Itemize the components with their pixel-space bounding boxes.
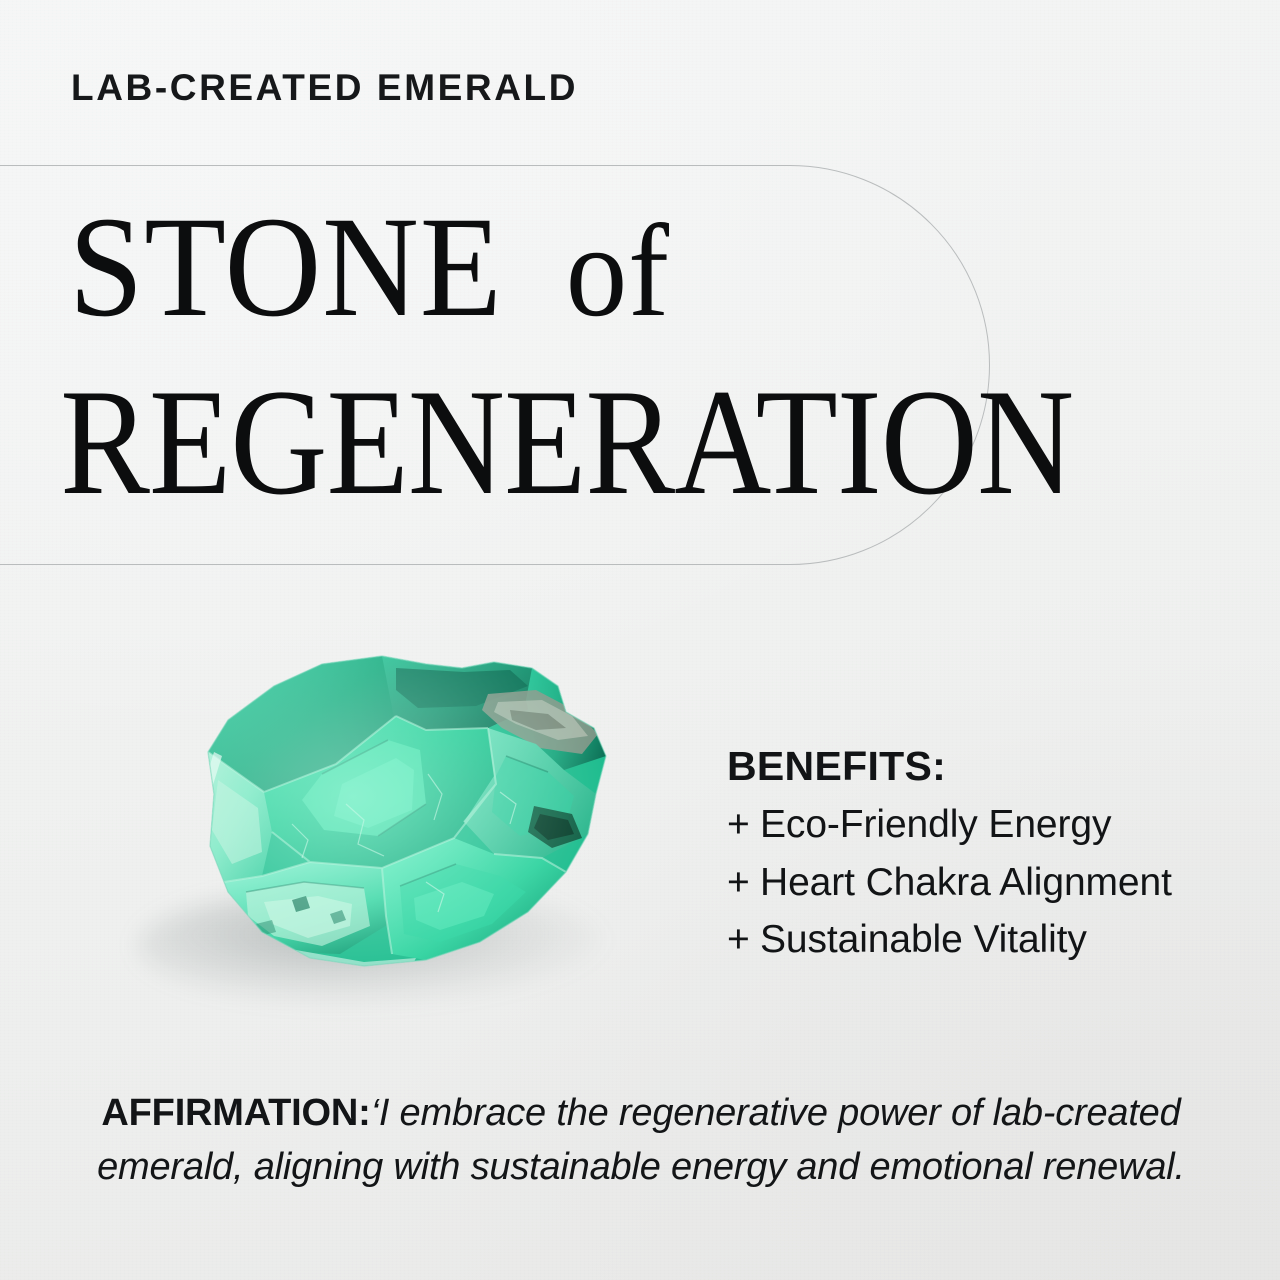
benefit-label: Heart Chakra Alignment [760, 854, 1172, 911]
benefit-label: Sustainable Vitality [760, 911, 1087, 968]
benefit-item-1: + Eco-Friendly Energy [727, 796, 1267, 853]
benefit-label: Eco-Friendly Energy [760, 796, 1111, 853]
plus-icon: + [727, 911, 760, 968]
page-title: STONE of REGENERATION [0, 196, 1280, 518]
affirmation-label: AFFIRMATION: [101, 1092, 370, 1134]
benefit-item-2: + Heart Chakra Alignment [727, 854, 1267, 911]
eyebrow-label: LAB-CREATED EMERALD [71, 67, 578, 109]
emerald-infographic-poster: LAB-CREATED EMERALD STONE of REGENERATIO… [0, 0, 1280, 1280]
benefits-title: BENEFITS: [727, 742, 1267, 790]
plus-icon: + [727, 796, 760, 853]
gemstone-figure [96, 624, 656, 1024]
title-line1-main: STONE [69, 188, 503, 347]
benefits-block: BENEFITS: + Eco-Friendly Energy + Heart … [727, 742, 1267, 968]
plus-icon: + [727, 854, 760, 911]
benefit-item-3: + Sustainable Vitality [727, 911, 1267, 968]
title-line2: REGENERATION [0, 366, 1133, 518]
rough-emerald-crystal-icon [96, 624, 636, 984]
title-line1-connector: of [503, 197, 670, 344]
affirmation-block: AFFIRMATION:‘I embrace the regenerative … [66, 1087, 1216, 1195]
